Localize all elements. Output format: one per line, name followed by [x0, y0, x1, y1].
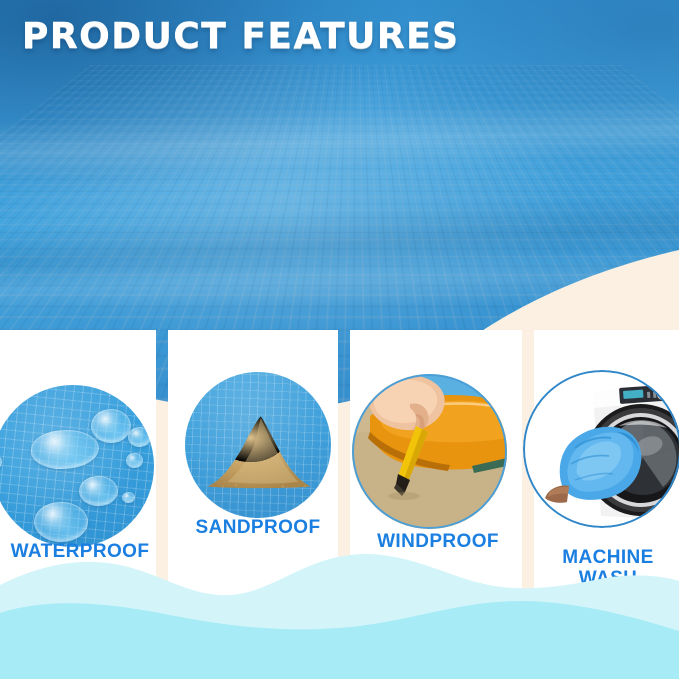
feature-label-sandproof: SANDPROOF — [178, 518, 338, 539]
waterproof-icon — [0, 385, 154, 547]
windproof-icon — [352, 374, 507, 529]
page-title: PRODUCT FEATURES — [22, 16, 460, 57]
bottom-wave-decoration — [0, 539, 679, 679]
product-features-infographic: PRODUCT FEATURES — [0, 0, 679, 679]
machine-wash-icon — [523, 370, 679, 528]
sandproof-icon — [185, 372, 331, 518]
